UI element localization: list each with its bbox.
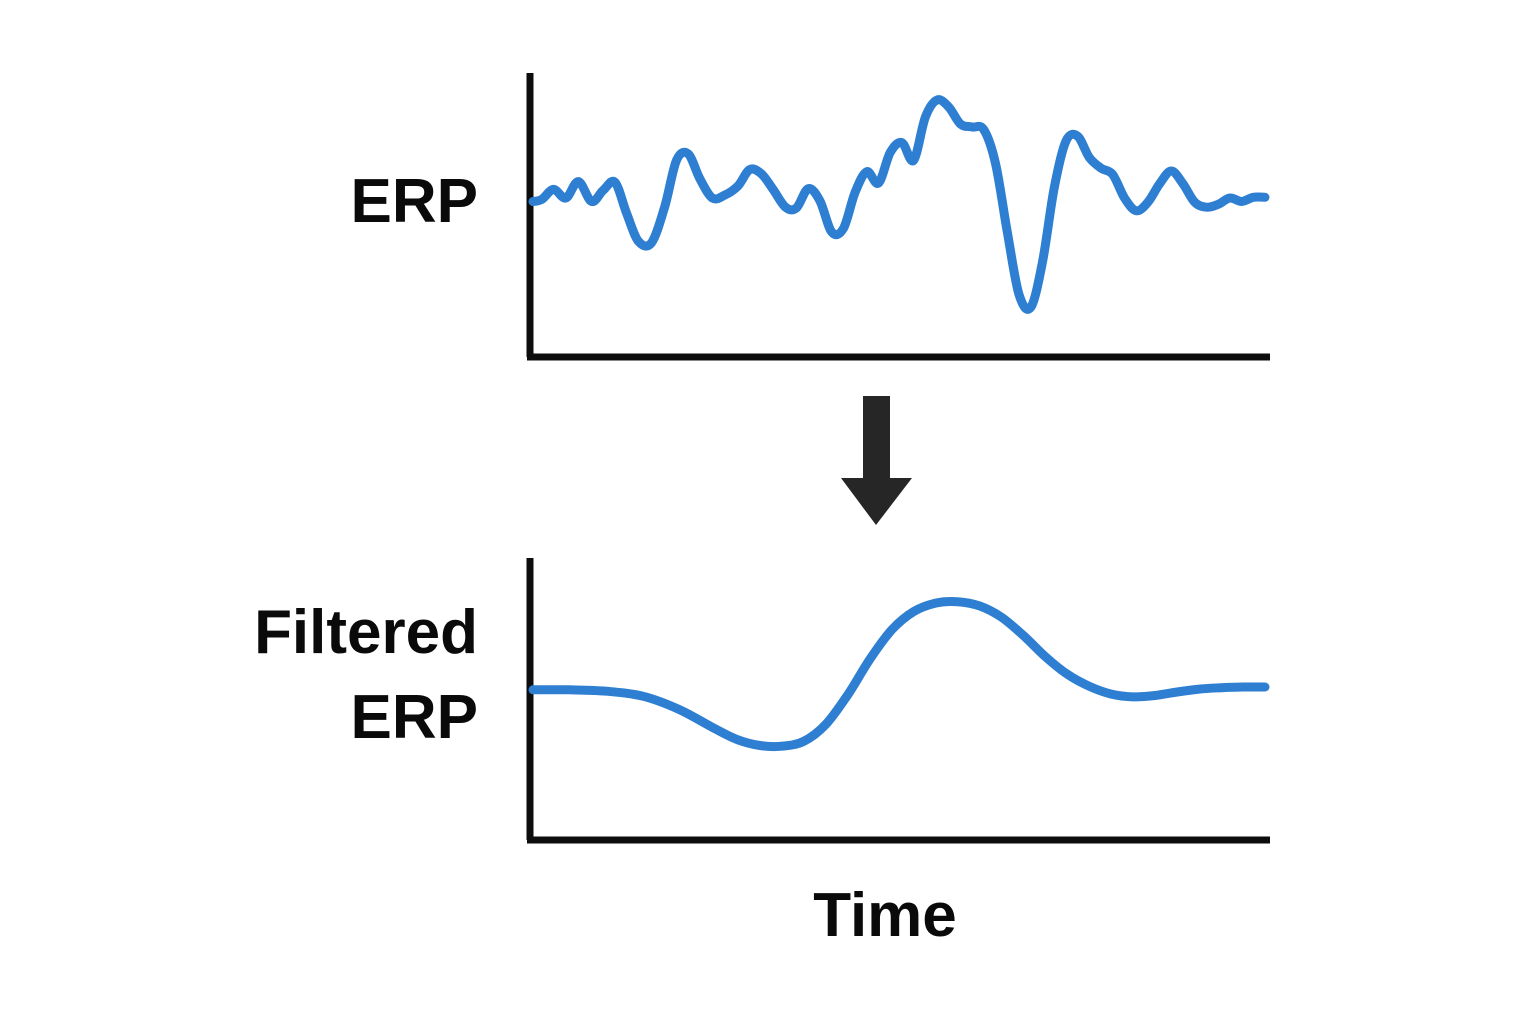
erp-filtering-diagram: ERP Filtered ERP Time [0,0,1536,1024]
figure-background [0,0,1536,1024]
x-axis-label-time: Time [813,881,957,950]
panel-label-erp: ERP [351,167,478,236]
panel-label-filtered-line2: ERP [351,683,478,752]
panel-label-filtered-line1: Filtered [254,598,478,667]
